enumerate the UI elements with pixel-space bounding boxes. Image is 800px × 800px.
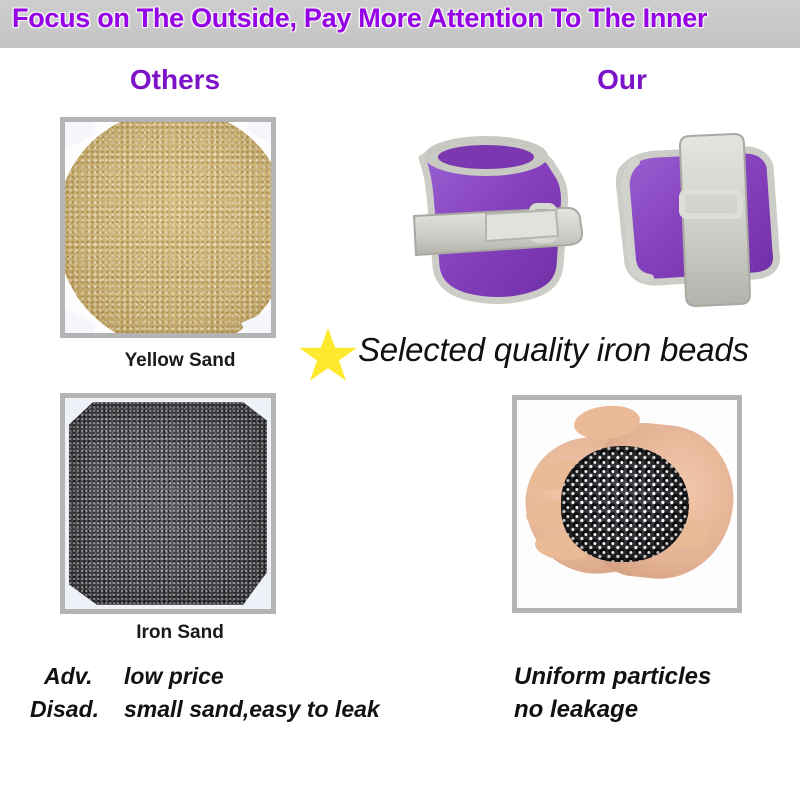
- strap-tail-upright: [486, 210, 558, 241]
- iron-beads-pile: [561, 446, 689, 562]
- page-title: Focus on The Outside, Pay More Attention…: [12, 3, 792, 34]
- benefit-line-1: Uniform particles: [514, 663, 711, 691]
- velcro-strap-folded: [680, 134, 750, 306]
- yellow-sand-caption: Yellow Sand: [80, 350, 280, 372]
- advantage-label: Adv.: [44, 663, 93, 690]
- yellow-sand-pile: [60, 117, 276, 338]
- star-icon: [299, 328, 357, 383]
- highlight-text: Selected quality iron beads: [358, 331, 749, 369]
- benefit-line-2: no leakage: [514, 696, 638, 724]
- title-banner: Focus on The Outside, Pay More Attention…: [0, 0, 800, 48]
- column-header-others: Others: [75, 64, 275, 96]
- iron-sand-photo: [60, 393, 276, 614]
- ankle-weights-illustration: [390, 118, 780, 318]
- hands-holding-iron-beads-photo: [512, 395, 742, 613]
- iron-sand-caption: Iron Sand: [80, 622, 280, 644]
- beads-image: [517, 400, 737, 608]
- cuff-opening-inner: [438, 145, 534, 169]
- purple-ankle-weights-photo: [390, 118, 780, 318]
- advantage-value: low price: [124, 663, 224, 690]
- disadvantage-value: small sand,easy to leak: [124, 696, 380, 723]
- iron-sand-pile: [69, 402, 267, 605]
- column-header-our: Our: [522, 64, 722, 96]
- infographic-canvas: Focus on The Outside, Pay More Attention…: [0, 0, 800, 800]
- disadvantage-label: Disad.: [30, 696, 99, 723]
- yellow-sand-photo: [60, 117, 276, 338]
- yellow-sand-image: [65, 122, 271, 333]
- iron-sand-image: [65, 398, 271, 609]
